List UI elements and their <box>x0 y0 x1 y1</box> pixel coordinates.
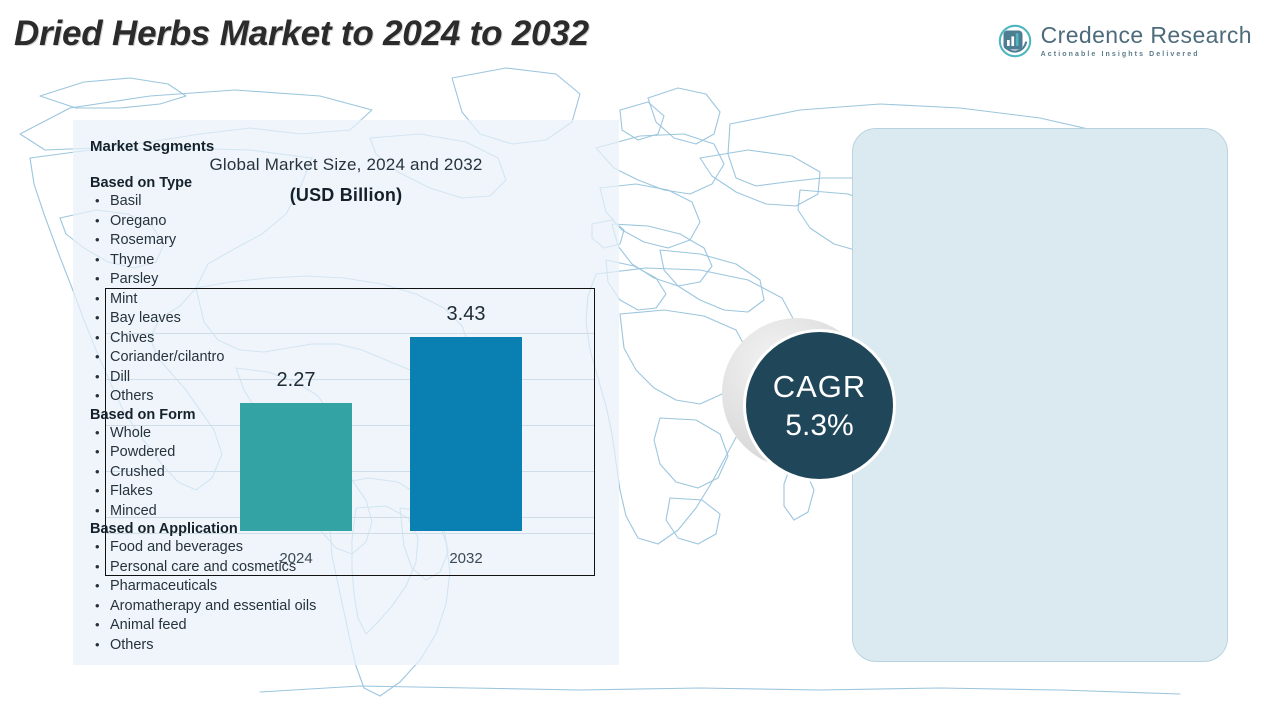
segment-list-item: Others <box>90 636 430 656</box>
market-segments-content: Market Segments Based on TypeBasilOregan… <box>90 138 430 655</box>
segment-list-item: Dill <box>90 368 430 388</box>
segment-list-item: Personal care and cosmetics <box>90 558 430 578</box>
segment-list-item: Basil <box>90 192 430 212</box>
infographic-canvas: Dried Herbs Market to 2024 to 2032 Crede… <box>0 0 1280 720</box>
logo-tagline: Actionable Insights Delivered <box>1041 51 1252 58</box>
segment-groups: Based on TypeBasilOreganoRosemaryThymePa… <box>90 175 430 655</box>
cagr-value: 5.3% <box>785 411 853 441</box>
cagr-label: CAGR <box>773 371 867 402</box>
segment-list-item: Thyme <box>90 251 430 271</box>
segment-list-item: Mint <box>90 290 430 310</box>
segment-list-item: Others <box>90 387 430 407</box>
segment-list-item: Minced <box>90 502 430 522</box>
segment-list: BasilOreganoRosemaryThymeParsleyMintBay … <box>90 192 430 407</box>
segment-group-heading: Based on Type <box>90 175 430 191</box>
segment-list: Food and beveragesPersonal care and cosm… <box>90 538 430 655</box>
segment-list-item: Bay leaves <box>90 309 430 329</box>
bar-chart-circle-icon <box>998 24 1032 58</box>
segment-list-item: Parsley <box>90 270 430 290</box>
segment-list-item: Food and beverages <box>90 538 430 558</box>
segment-list-item: Chives <box>90 329 430 349</box>
page-title: Dried Herbs Market to 2024 to 2032 <box>14 14 589 54</box>
segment-list-item: Pharmaceuticals <box>90 577 430 597</box>
cagr-circle: CAGR 5.3% <box>746 332 893 479</box>
market-segments-panel <box>852 128 1228 662</box>
segment-list-item: Whole <box>90 424 430 444</box>
brand-logo: Credence Research Actionable Insights De… <box>998 24 1252 58</box>
cagr-badge: CAGR 5.3% <box>722 318 894 483</box>
segment-list-item: Oregano <box>90 212 430 232</box>
segment-list: WholePowderedCrushedFlakesMinced <box>90 424 430 522</box>
segment-list-item: Coriander/cilantro <box>90 348 430 368</box>
segment-list-item: Aromatherapy and essential oils <box>90 597 430 617</box>
market-segments-title: Market Segments <box>90 138 430 155</box>
segment-list-item: Flakes <box>90 482 430 502</box>
segment-group-heading: Based on Application <box>90 521 430 537</box>
segment-list-item: Crushed <box>90 463 430 483</box>
segment-list-item: Animal feed <box>90 616 430 636</box>
segment-group-heading: Based on Form <box>90 407 430 423</box>
logo-company-name: Credence Research <box>1041 24 1252 47</box>
segment-list-item: Rosemary <box>90 231 430 251</box>
segment-list-item: Powdered <box>90 443 430 463</box>
